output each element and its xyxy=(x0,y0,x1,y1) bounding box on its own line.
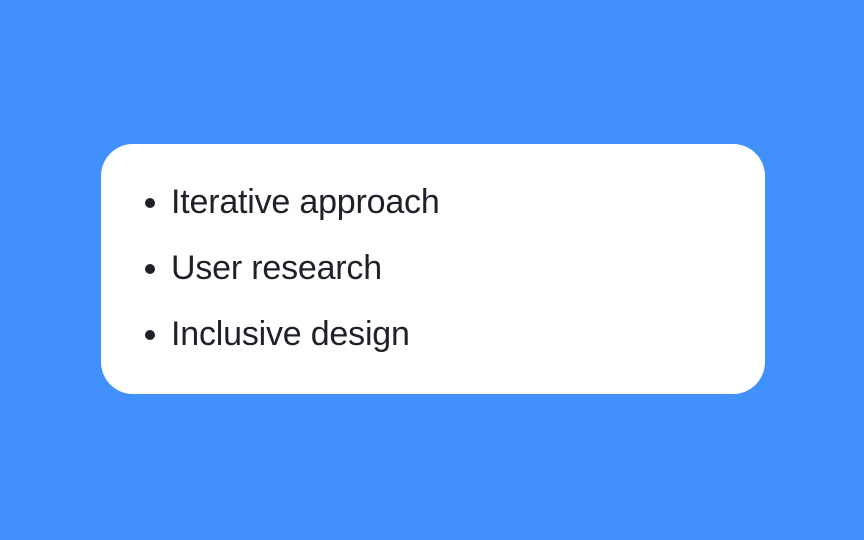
list-item[interactable]: Iterative approach xyxy=(145,170,765,236)
disc-bullet-icon xyxy=(145,198,155,208)
list-item-label: Inclusive design xyxy=(171,315,410,354)
list-item[interactable]: User research xyxy=(145,236,765,302)
slide-canvas: Iterative approach User research Inclusi… xyxy=(0,0,864,540)
disc-bullet-icon xyxy=(145,264,155,274)
list-item-label: Iterative approach xyxy=(171,183,440,222)
content-card: Iterative approach User research Inclusi… xyxy=(101,144,765,394)
list-item[interactable]: Inclusive design xyxy=(145,302,765,368)
disc-bullet-icon xyxy=(145,330,155,340)
bullet-list: Iterative approach User research Inclusi… xyxy=(145,144,765,394)
list-item-label: User research xyxy=(171,249,382,288)
